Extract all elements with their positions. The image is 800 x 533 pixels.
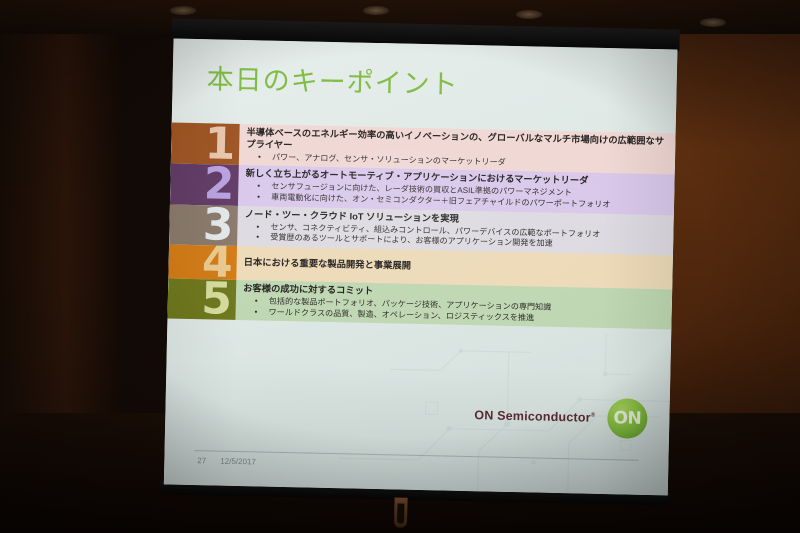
screen-pull-handle-inner <box>397 504 404 524</box>
key-point-number: 5 <box>201 282 232 317</box>
on-semiconductor-logo: ON Semiconductor® ON <box>474 395 648 439</box>
key-point-number: 2 <box>203 168 234 203</box>
on-circle-icon: ON <box>607 398 648 439</box>
key-point-body: お客様の成功に対するコミット 包括的な製品ポートフォリオ、パッケージ技術、アプリ… <box>235 280 672 330</box>
on-circle-label: ON <box>613 408 641 429</box>
registered-trademark-icon: ® <box>591 413 596 419</box>
key-point-number: 4 <box>202 245 233 280</box>
conference-room-photo: 本日のキーポイント 1 半導体ベースのエネルギー効率の高いイノベーションの、グロ… <box>0 0 800 533</box>
presentation-slide: 本日のキーポイント 1 半導体ベースのエネルギー効率の高いイノベーションの、グロ… <box>164 39 678 496</box>
key-point-badge: 1 <box>171 122 240 165</box>
key-point-heading: 日本における重要な製品開発と事業展開 <box>244 257 412 273</box>
screen-surface: 本日のキーポイント 1 半導体ベースのエネルギー効率の高いイノベーションの、グロ… <box>164 39 678 496</box>
key-point-number: 1 <box>204 127 235 162</box>
logo-wordmark-text: ON Semiconductor <box>474 408 591 425</box>
key-point-badge: 5 <box>167 279 236 321</box>
slide-date: 12/5/2017 <box>220 457 256 467</box>
key-point-badge: 4 <box>168 244 237 280</box>
ceiling-light <box>363 6 389 15</box>
ceiling-light <box>170 6 196 15</box>
page-number: 27 <box>197 456 206 465</box>
logo-wordmark: ON Semiconductor® <box>474 408 595 425</box>
slide-footer: 27 12/5/2017 <box>197 456 256 466</box>
projection-screen: 本日のキーポイント 1 半導体ベースのエネルギー効率の高いイノベーションの、グロ… <box>139 18 680 529</box>
key-point-number: 3 <box>202 208 233 243</box>
ceiling-light <box>516 10 542 19</box>
key-point-badge: 3 <box>169 204 238 246</box>
key-point-badge: 2 <box>170 164 239 206</box>
key-points-list: 1 半導体ベースのエネルギー効率の高いイノベーションの、グローバルなマルチ市場向… <box>167 122 675 329</box>
ceiling-light <box>700 18 726 27</box>
page-title: 本日のキーポイント <box>206 57 459 101</box>
